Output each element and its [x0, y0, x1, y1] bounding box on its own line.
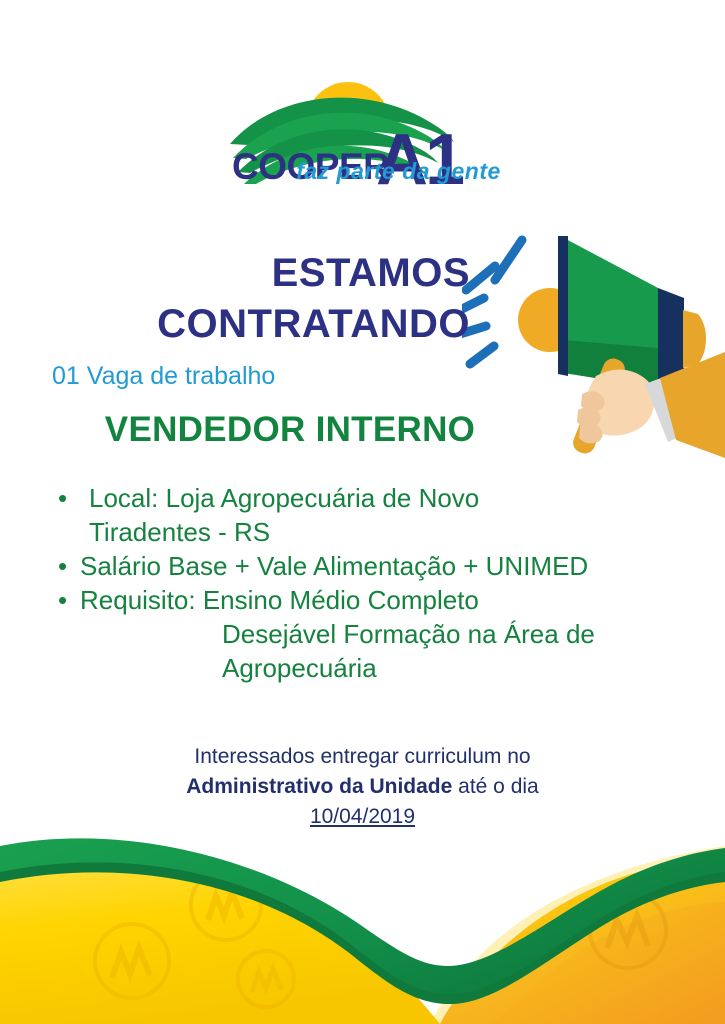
- job-details-list: • Local: Loja Agropecuária de Novo Tirad…: [58, 481, 698, 685]
- bullet-marker: •: [58, 583, 80, 617]
- list-item-line1: Salário Base + Vale Alimentação + UNIMED: [80, 551, 588, 581]
- hand-icon: [577, 369, 655, 443]
- bullet-marker: •: [58, 549, 80, 583]
- logo-tagline: faz parte da gente: [224, 158, 501, 184]
- footer-line1: Interessados entregar curriculum no: [0, 742, 725, 772]
- list-item-text: Salário Base + Vale Alimentação + UNIMED: [80, 549, 698, 583]
- list-item-line3: Agropecuária: [80, 651, 698, 685]
- sound-waves-icon: [462, 240, 522, 364]
- list-item-line2: Desejável Formação na Área de: [80, 617, 698, 651]
- footer-line2-rest: até o dia: [452, 775, 538, 798]
- job-title: VENDEDOR INTERNO: [0, 410, 580, 450]
- list-item-line1: Requisito: Ensino Médio Completo: [80, 585, 479, 615]
- bottom-wave-decoration: [0, 824, 725, 1024]
- bullet-marker: •: [58, 481, 80, 515]
- application-instructions: Interessados entregar curriculum no Admi…: [0, 742, 725, 831]
- list-item-text: Requisito: Ensino Médio Completo Desejáv…: [80, 583, 698, 685]
- job-posting-flyer: COOPER A1 faz parte da gente: [0, 0, 725, 1024]
- list-item: • Local: Loja Agropecuária de Novo Tirad…: [58, 481, 698, 549]
- company-logo: COOPER A1 faz parte da gente: [0, 32, 725, 192]
- headline: ESTAMOS CONTRATANDO: [0, 248, 470, 350]
- list-item-line2: Tiradentes - RS: [89, 515, 698, 549]
- vacancy-count: 01 Vaga de trabalho: [52, 363, 275, 391]
- list-item-text: Local: Loja Agropecuária de Novo Tiraden…: [80, 481, 698, 549]
- megaphone-rim: [558, 236, 568, 376]
- wave-hills-icon: [0, 824, 725, 1024]
- megaphone-cap: [683, 310, 706, 368]
- footer-location-bold: Administrativo da Unidade: [186, 775, 452, 798]
- list-item: • Requisito: Ensino Médio Completo Desej…: [58, 583, 698, 685]
- footer-line2: Administrativo da Unidade até o dia: [0, 772, 725, 802]
- list-item: • Salário Base + Vale Alimentação + UNIM…: [58, 549, 698, 583]
- headline-line2: CONTRATANDO: [0, 299, 470, 350]
- list-item-line1: Local: Loja Agropecuária de Novo: [89, 483, 479, 513]
- headline-line1: ESTAMOS: [272, 251, 470, 295]
